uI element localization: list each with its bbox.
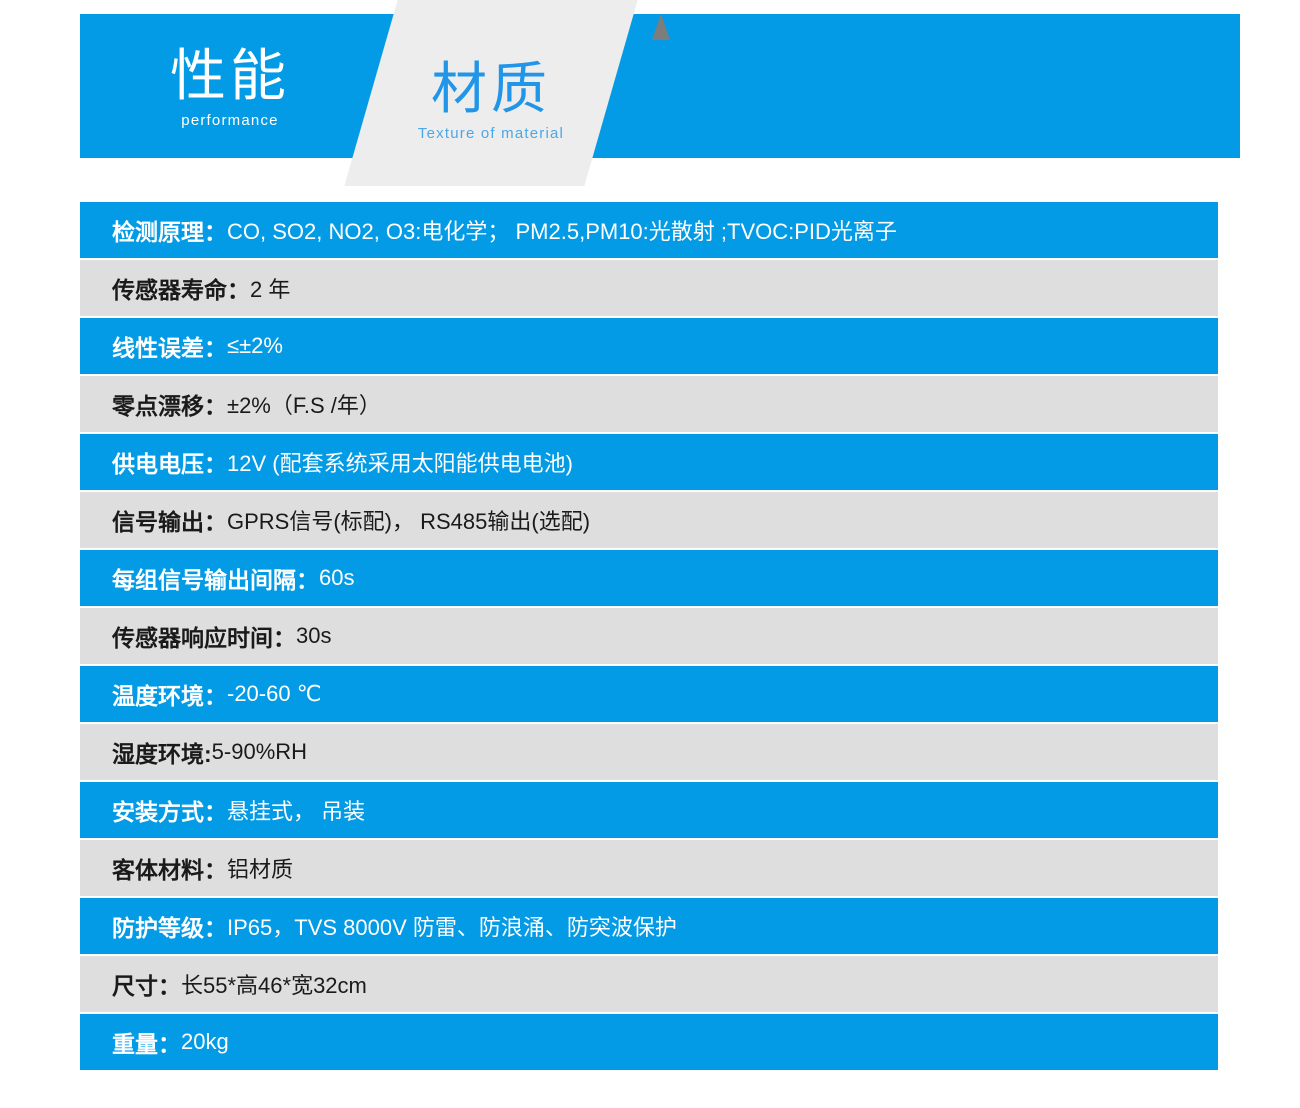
spec-value: IP65，TVS 8000V 防雷、防浪涌、防突波保护 (227, 910, 677, 942)
spec-label: 传感器响应时间： (112, 619, 296, 653)
spec-label: 湿度环境: (112, 735, 212, 769)
tab-texture-title-cn: 材质 (431, 60, 551, 119)
spec-value: 5-90%RH (212, 739, 307, 765)
spec-value: 长55*高46*宽32cm (181, 968, 367, 1000)
spec-label: 每组信号输出间隔： (112, 561, 319, 595)
spec-value: CO, SO2, NO2, O3:电化学； PM2.5,PM10:光散射 ;TV… (227, 214, 897, 246)
spec-value: 20kg (181, 1029, 229, 1055)
table-row: 线性误差： ≤±2% (80, 318, 1218, 374)
spec-label: 尺寸： (112, 967, 181, 1001)
spec-label: 零点漂移： (112, 387, 227, 421)
tab-performance-title-en: performance (181, 112, 278, 129)
table-row: 湿度环境: 5-90%RH (80, 724, 1218, 780)
spec-value: 悬挂式， 吊装 (227, 794, 365, 826)
tab-performance-title-cn: 性能 (170, 47, 290, 106)
section-header-banner: 性能 performance 材质 Texture of material (80, 14, 1240, 158)
spec-label: 信号输出： (112, 503, 227, 537)
table-row: 温度环境： -20-60 ℃ (80, 666, 1218, 722)
spec-label: 检测原理： (112, 213, 227, 247)
spec-value: 60s (319, 565, 354, 591)
table-row: 安装方式： 悬挂式， 吊装 (80, 782, 1218, 838)
table-row: 传感器响应时间： 30s (80, 608, 1218, 664)
spec-label: 传感器寿命： (112, 271, 250, 305)
spec-value: ±2%（F.S /年） (227, 388, 381, 420)
table-row: 传感器寿命： 2 年 (80, 260, 1218, 316)
table-row: 重量： 20kg (80, 1014, 1218, 1070)
product-spec-page: 性能 performance 材质 Texture of material 检测… (0, 0, 1300, 1108)
spec-label: 安装方式： (112, 793, 227, 827)
tab-texture-of-material[interactable]: 材质 Texture of material (344, 0, 637, 186)
spec-label: 供电电压： (112, 445, 227, 479)
table-row: 尺寸： 长55*高46*宽32cm (80, 956, 1218, 1012)
table-row: 供电电压： 12V (配套系统采用太阳能供电电池) (80, 434, 1218, 490)
fold-corner-top-right-icon (652, 14, 670, 40)
spec-value: 30s (296, 623, 331, 649)
spec-value: -20-60 ℃ (227, 681, 321, 707)
spec-value: ≤±2% (227, 333, 283, 359)
table-row: 防护等级： IP65，TVS 8000V 防雷、防浪涌、防突波保护 (80, 898, 1218, 954)
spec-label: 线性误差： (112, 329, 227, 363)
spec-value: GPRS信号(标配)， RS485输出(选配) (227, 504, 590, 536)
tab-performance[interactable]: 性能 performance (80, 14, 380, 158)
table-row: 信号输出： GPRS信号(标配)， RS485输出(选配) (80, 492, 1218, 548)
spec-label: 温度环境： (112, 677, 227, 711)
table-row: 零点漂移： ±2%（F.S /年） (80, 376, 1218, 432)
spec-value: 12V (配套系统采用太阳能供电电池) (227, 446, 573, 478)
spec-value: 2 年 (250, 272, 290, 304)
tab-texture-title-en: Texture of material (418, 125, 564, 142)
spec-label: 客体材料： (112, 851, 227, 885)
spec-label: 重量： (112, 1025, 181, 1059)
table-row: 每组信号输出间隔： 60s (80, 550, 1218, 606)
specification-table: 检测原理： CO, SO2, NO2, O3:电化学； PM2.5,PM10:光… (80, 202, 1218, 1072)
tab-texture-content: 材质 Texture of material (371, 0, 611, 186)
spec-value: 铝材质 (227, 852, 293, 884)
table-row: 客体材料： 铝材质 (80, 840, 1218, 896)
spec-label: 防护等级： (112, 909, 227, 943)
table-row: 检测原理： CO, SO2, NO2, O3:电化学； PM2.5,PM10:光… (80, 202, 1218, 258)
